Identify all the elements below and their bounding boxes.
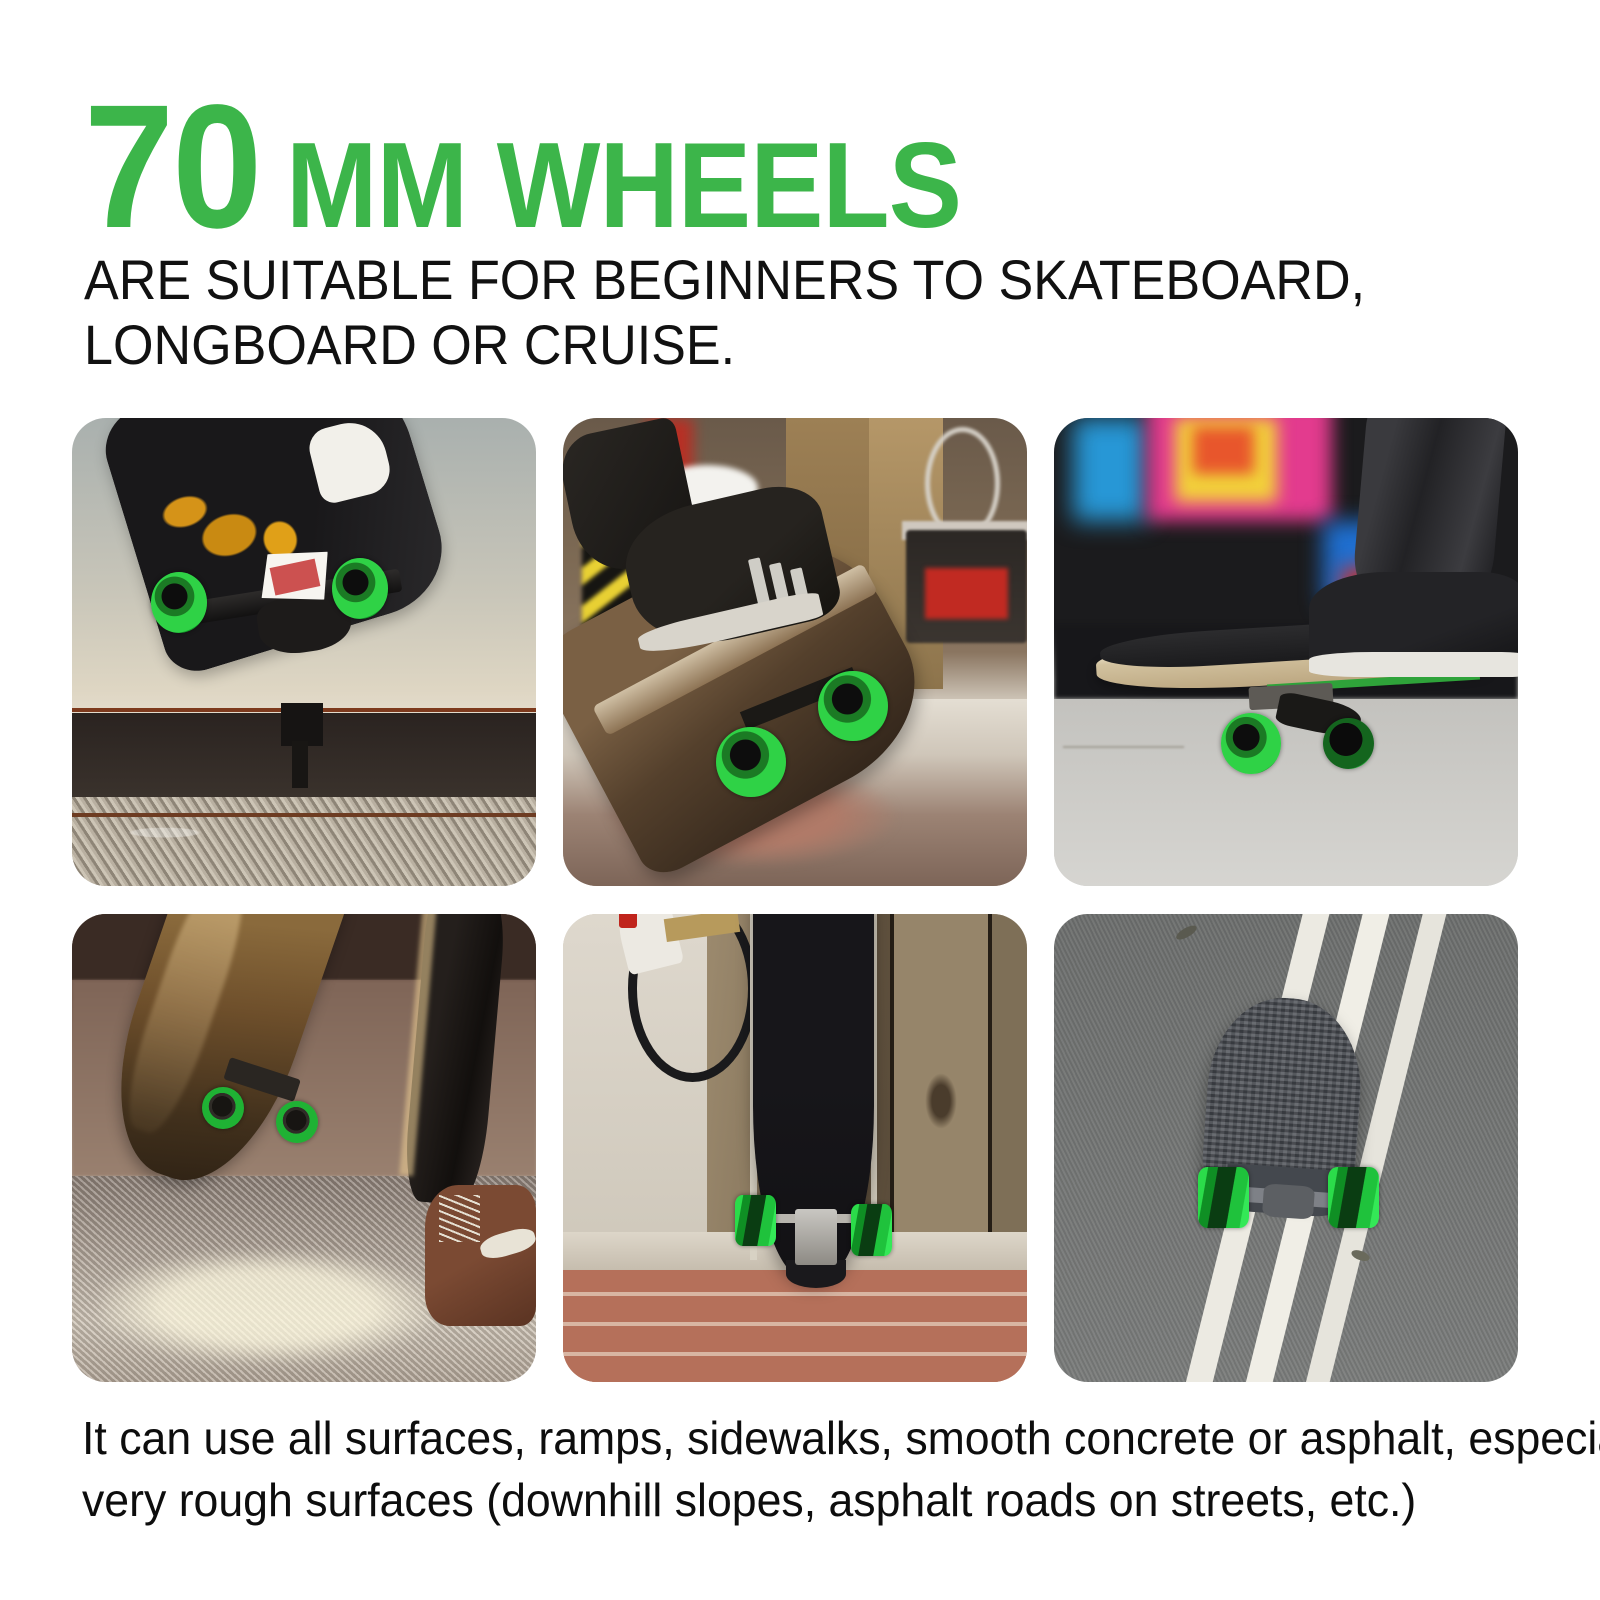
fence-gap-1 — [890, 914, 895, 1251]
gallery-photo-1 — [72, 418, 536, 886]
subheadline-line-1: ARE SUITABLE FOR BEGINNERS TO SKATEBOARD… — [84, 248, 1293, 313]
headline-unit: MM WHEELS — [286, 133, 961, 238]
shoe-laces — [439, 1195, 481, 1242]
headline: 70 MM WHEELS — [84, 92, 1036, 243]
graffiti-blue — [1073, 418, 1147, 521]
fence-plank-4 — [990, 914, 1027, 1251]
green-wheel-rear — [332, 558, 388, 619]
ledge-bracket — [281, 703, 323, 745]
green-wheel-right — [1328, 1167, 1379, 1228]
photo-skater-graffiti-wall — [1054, 418, 1518, 886]
bucket-label — [925, 568, 1009, 619]
green-wheel-front — [202, 1087, 244, 1129]
photo-board-on-asphalt — [72, 914, 536, 1382]
green-wheel-right — [851, 1204, 893, 1255]
brick-pavement — [563, 1270, 1027, 1382]
gallery-photo-2 — [563, 418, 1027, 886]
photo-cruiser-on-road — [1054, 914, 1518, 1382]
truck-hanger — [1262, 1184, 1315, 1220]
subheadline: ARE SUITABLE FOR BEGINNERS TO SKATEBOARD… — [84, 248, 1293, 378]
photo-longboard-on-fence — [563, 914, 1027, 1382]
gallery-photo-6 — [1054, 914, 1518, 1382]
ledge-post — [292, 741, 308, 788]
green-wheel-rear — [276, 1101, 318, 1143]
shoe-sole — [1309, 652, 1518, 677]
truck-baseplate — [795, 1209, 837, 1265]
subheadline-line-2: LONGBOARD OR CRUISE. — [84, 313, 1293, 378]
green-wheel-front — [151, 572, 207, 633]
fence-gap-2 — [988, 914, 993, 1251]
green-wheel-rear — [818, 671, 888, 741]
green-wheel-rear — [1323, 718, 1374, 769]
bottom-caption: It can use all surfaces, ramps, sidewalk… — [82, 1408, 1479, 1531]
green-wheel-front — [1221, 713, 1281, 774]
gravel-ground — [72, 797, 536, 886]
green-wheel-front — [716, 727, 786, 797]
wood-knot — [925, 1073, 957, 1129]
photo-shoe-tipping-deck — [563, 418, 1027, 886]
headline-number: 70 — [84, 92, 260, 243]
sunlight-patch — [100, 1251, 434, 1363]
graffiti-orange — [1193, 427, 1253, 474]
caption-line-2: very rough surfaces (downhill slopes, as… — [82, 1470, 1479, 1532]
ground-crack — [1063, 746, 1184, 748]
curb-line — [72, 813, 536, 817]
photo-gallery — [72, 418, 1538, 1382]
gallery-photo-4 — [72, 914, 536, 1382]
photo-longboard-airborne — [72, 418, 536, 886]
debris-1 — [1174, 923, 1199, 943]
concrete-ground — [1054, 699, 1518, 886]
gallery-photo-5 — [563, 914, 1027, 1382]
product-feature-page: 70 MM WHEELS ARE SUITABLE FOR BEGINNERS … — [0, 0, 1600, 1600]
green-wheel-left — [1198, 1167, 1249, 1228]
bicycle-reflector — [619, 914, 638, 928]
gallery-photo-3 — [1054, 418, 1518, 886]
caption-line-1: It can use all surfaces, ramps, sidewalk… — [82, 1408, 1479, 1470]
green-wheel-left — [735, 1195, 777, 1246]
